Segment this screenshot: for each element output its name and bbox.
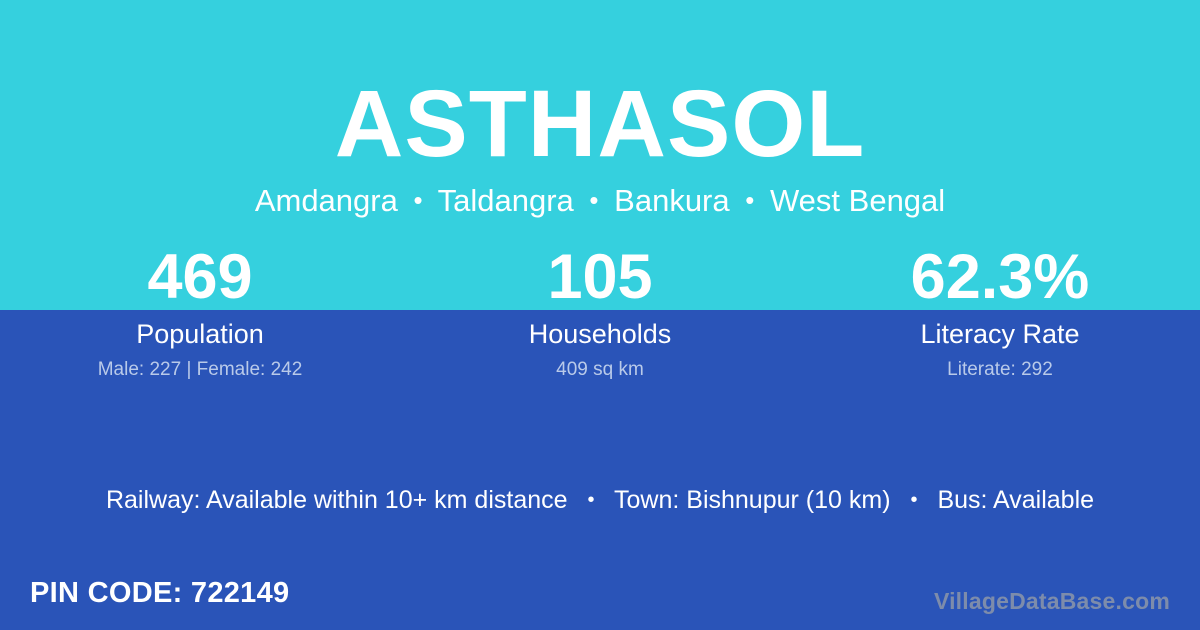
stat-label: Literacy Rate [800,318,1200,350]
facility-railway: Railway: Available within 10+ km distanc… [106,486,568,514]
breadcrumb-item-district: Bankura [614,183,729,218]
page-title: ASTHASOL [0,74,1200,174]
stat-label: Households [400,318,800,350]
facility-bus: Bus: Available [937,486,1094,514]
breadcrumb-item-state: West Bengal [770,183,945,218]
breadcrumb: Amdangra • Taldangra • Bankura • West Be… [0,180,1200,221]
stat-sublabel: Literate: 292 [800,358,1200,382]
site-watermark: VillageDataBase.com [934,586,1170,616]
facility-town: Town: Bishnupur (10 km) [614,486,891,514]
stat-value: 62.3% [800,244,1200,310]
pin-code: PIN CODE: 722149 [30,575,289,611]
stat-literacy-rate: 62.3% Literacy Rate Literate: 292 [800,244,1200,382]
stat-population: 469 Population Male: 227 | Female: 242 [0,244,400,382]
bullet-separator-icon: • [575,489,608,511]
stat-households: 105 Households 409 sq km [400,244,800,382]
bullet-separator-icon: • [582,185,605,215]
stat-value: 469 [0,244,400,310]
stat-value: 105 [400,244,800,310]
stat-sublabel: 409 sq km [400,358,800,382]
bullet-separator-icon: • [897,489,930,511]
stats-row: 469 Population Male: 227 | Female: 242 1… [0,244,1200,382]
breadcrumb-item-block: Taldangra [438,183,574,218]
breadcrumb-item-village: Amdangra [255,183,398,218]
bullet-separator-icon: • [406,185,429,215]
village-info-card: ASTHASOL Amdangra • Taldangra • Bankura … [0,0,1200,630]
stat-label: Population [0,318,400,350]
bullet-separator-icon: • [738,185,761,215]
stat-sublabel: Male: 227 | Female: 242 [0,358,400,382]
facilities-row: Railway: Available within 10+ km distanc… [0,484,1200,516]
